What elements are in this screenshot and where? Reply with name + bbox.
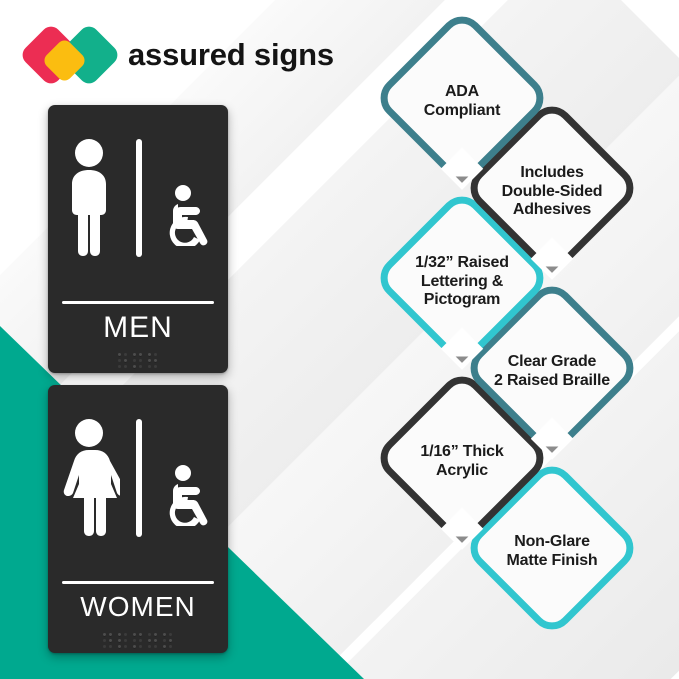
sign-label-women: WOMEN	[48, 591, 228, 623]
top-right-corner-accent	[621, 0, 679, 58]
female-pictogram-icon	[58, 418, 120, 538]
male-pictogram-icon	[58, 138, 120, 258]
brand-name: assured signs	[128, 37, 334, 73]
pictogram-row	[48, 385, 228, 571]
restroom-sign-men: MEN	[48, 105, 228, 373]
sign-label-men: MEN	[48, 311, 228, 345]
wheelchair-icon	[156, 464, 218, 526]
logo-diamonds-icon	[28, 24, 114, 86]
wheelchair-icon	[156, 184, 218, 246]
pictogram-row	[48, 105, 228, 291]
vertical-divider	[136, 139, 142, 257]
braille-men	[48, 353, 228, 369]
sign-divider-rule	[62, 301, 214, 304]
vertical-divider	[136, 419, 142, 537]
product-infographic: assured signs	[0, 0, 679, 679]
brand-logo: assured signs	[28, 24, 334, 86]
braille-women	[48, 633, 228, 649]
restroom-sign-women: WOMEN	[48, 385, 228, 653]
sign-divider-rule	[62, 581, 214, 584]
